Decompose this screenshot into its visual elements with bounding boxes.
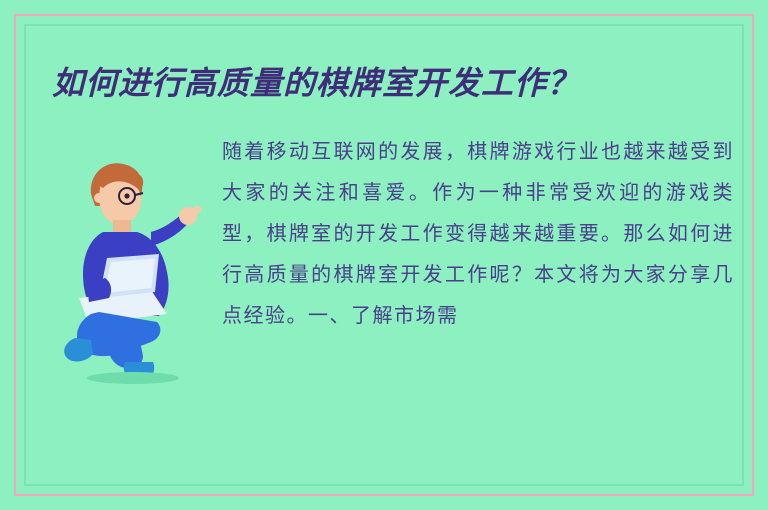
person-with-laptop-illustration [55, 150, 215, 385]
poster-card: 如何进行高质量的棋牌室开发工作？ [0, 0, 768, 510]
article-body: 随着移动互联网的发展，棋牌游戏行业也越来越受到大家的关注和喜爱。作为一种非常受欢… [222, 132, 734, 337]
page-title: 如何进行高质量的棋牌室开发工作？ [52, 58, 732, 104]
